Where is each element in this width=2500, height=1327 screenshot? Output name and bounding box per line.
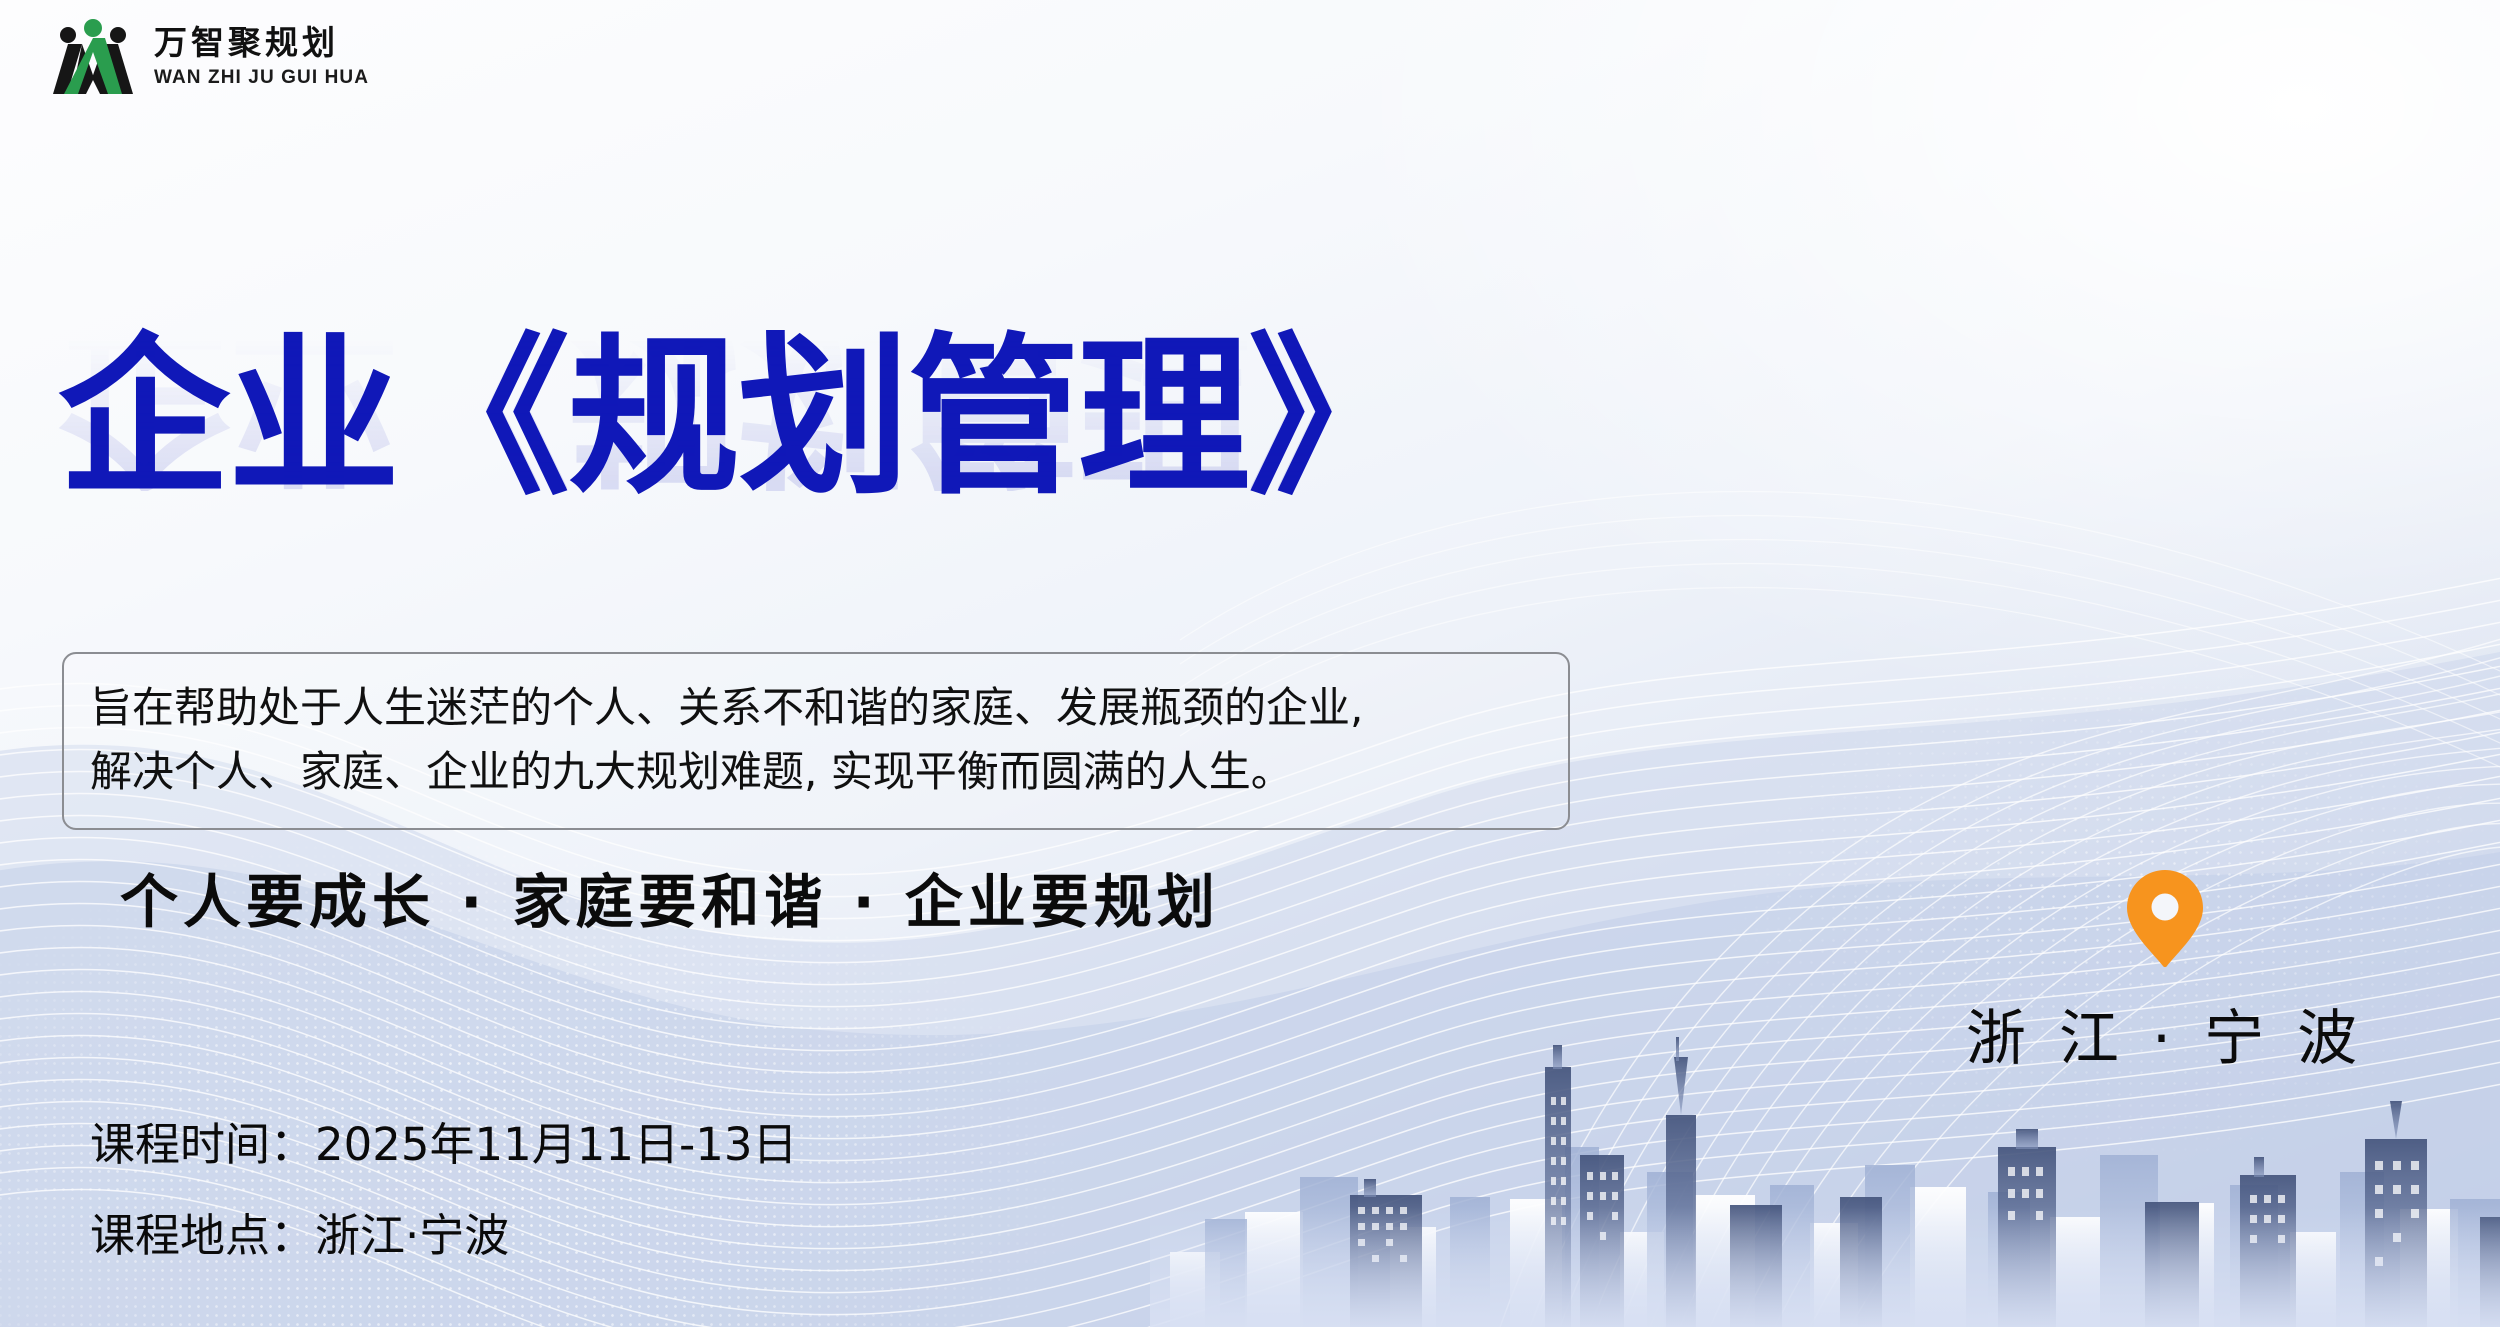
brand-header: 万智聚规划 WAN ZHI JU GUI HUA: [52, 18, 369, 96]
course-venue: 课程地点：浙江·宁波: [90, 1213, 798, 1258]
description-line-1: 旨在帮助处于人生迷茫的个人、关系不和谐的家庭、发展瓶颈的企业,: [90, 676, 1542, 740]
three-people-logo-icon: [52, 18, 134, 96]
poster-canvas: 万智聚规划 WAN ZHI JU GUI HUA 企业《规划管理》 企业《规划管…: [0, 0, 2500, 1327]
course-date: 课程时间：2025年11月11日-13日: [90, 1122, 798, 1167]
page-title-reflection: 企业《规划管理》: [58, 316, 1758, 491]
location-city-label: 浙 江 · 宁 波: [1955, 990, 2375, 1077]
location-badge: 浙 江 · 宁 波: [1955, 870, 2375, 1077]
brand-text: 万智聚规划 WAN ZHI JU GUI HUA: [154, 28, 369, 87]
description-line-2: 解决个人、家庭、企业的九大规划难题, 实现平衡而圆满的人生。: [90, 740, 1542, 804]
slogan-text: 个人要成长 · 家庭要和谐 · 企业要规划: [120, 855, 1220, 939]
description-box: 旨在帮助处于人生迷茫的个人、关系不和谐的家庭、发展瓶颈的企业, 解决个人、家庭、…: [62, 652, 1570, 830]
map-pin-icon: [2127, 870, 2203, 968]
brand-name-cn: 万智聚规划: [154, 28, 369, 61]
hero-title-block: 企业《规划管理》 企业《规划管理》: [58, 330, 1758, 667]
brand-name-en: WAN ZHI JU GUI HUA: [154, 68, 369, 87]
course-details: 课程时间：2025年11月11日-13日 课程地点：浙江·宁波: [90, 1122, 798, 1258]
